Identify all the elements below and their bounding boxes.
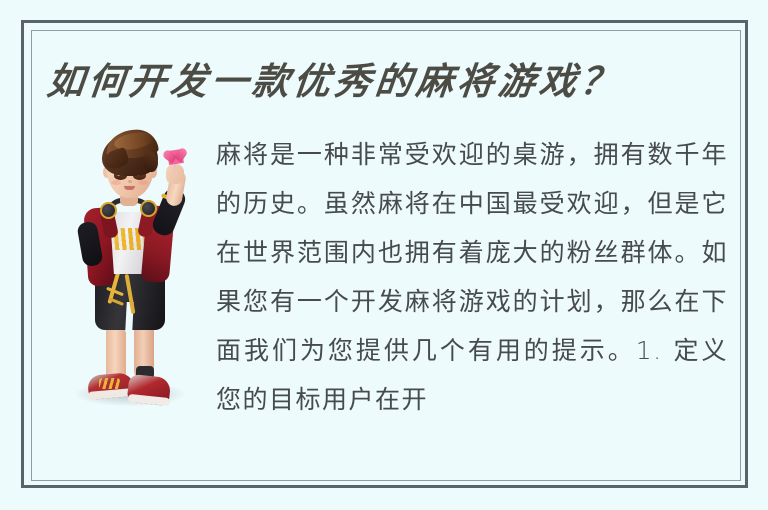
hair-side-fade xyxy=(144,152,158,172)
right-blush xyxy=(138,180,148,185)
headphones-left-cup xyxy=(100,202,117,219)
left-sneaker-stripes xyxy=(99,378,120,389)
cartoon-boy-character xyxy=(62,124,202,414)
heart-lollipop-icon xyxy=(167,149,184,165)
article-body-text: 麻将是一种非常受欢迎的桌游，拥有数千年的历史。虽然麻将在中国最受欢迎，但是它在世… xyxy=(216,130,728,424)
nose xyxy=(128,180,132,183)
article-card: 如何开发一款优秀的麻将游戏？ xyxy=(0,0,768,510)
page-title: 如何开发一款优秀的麻将游戏？ xyxy=(45,60,710,106)
headphones-right-cup xyxy=(140,200,157,217)
left-blush xyxy=(111,180,121,185)
